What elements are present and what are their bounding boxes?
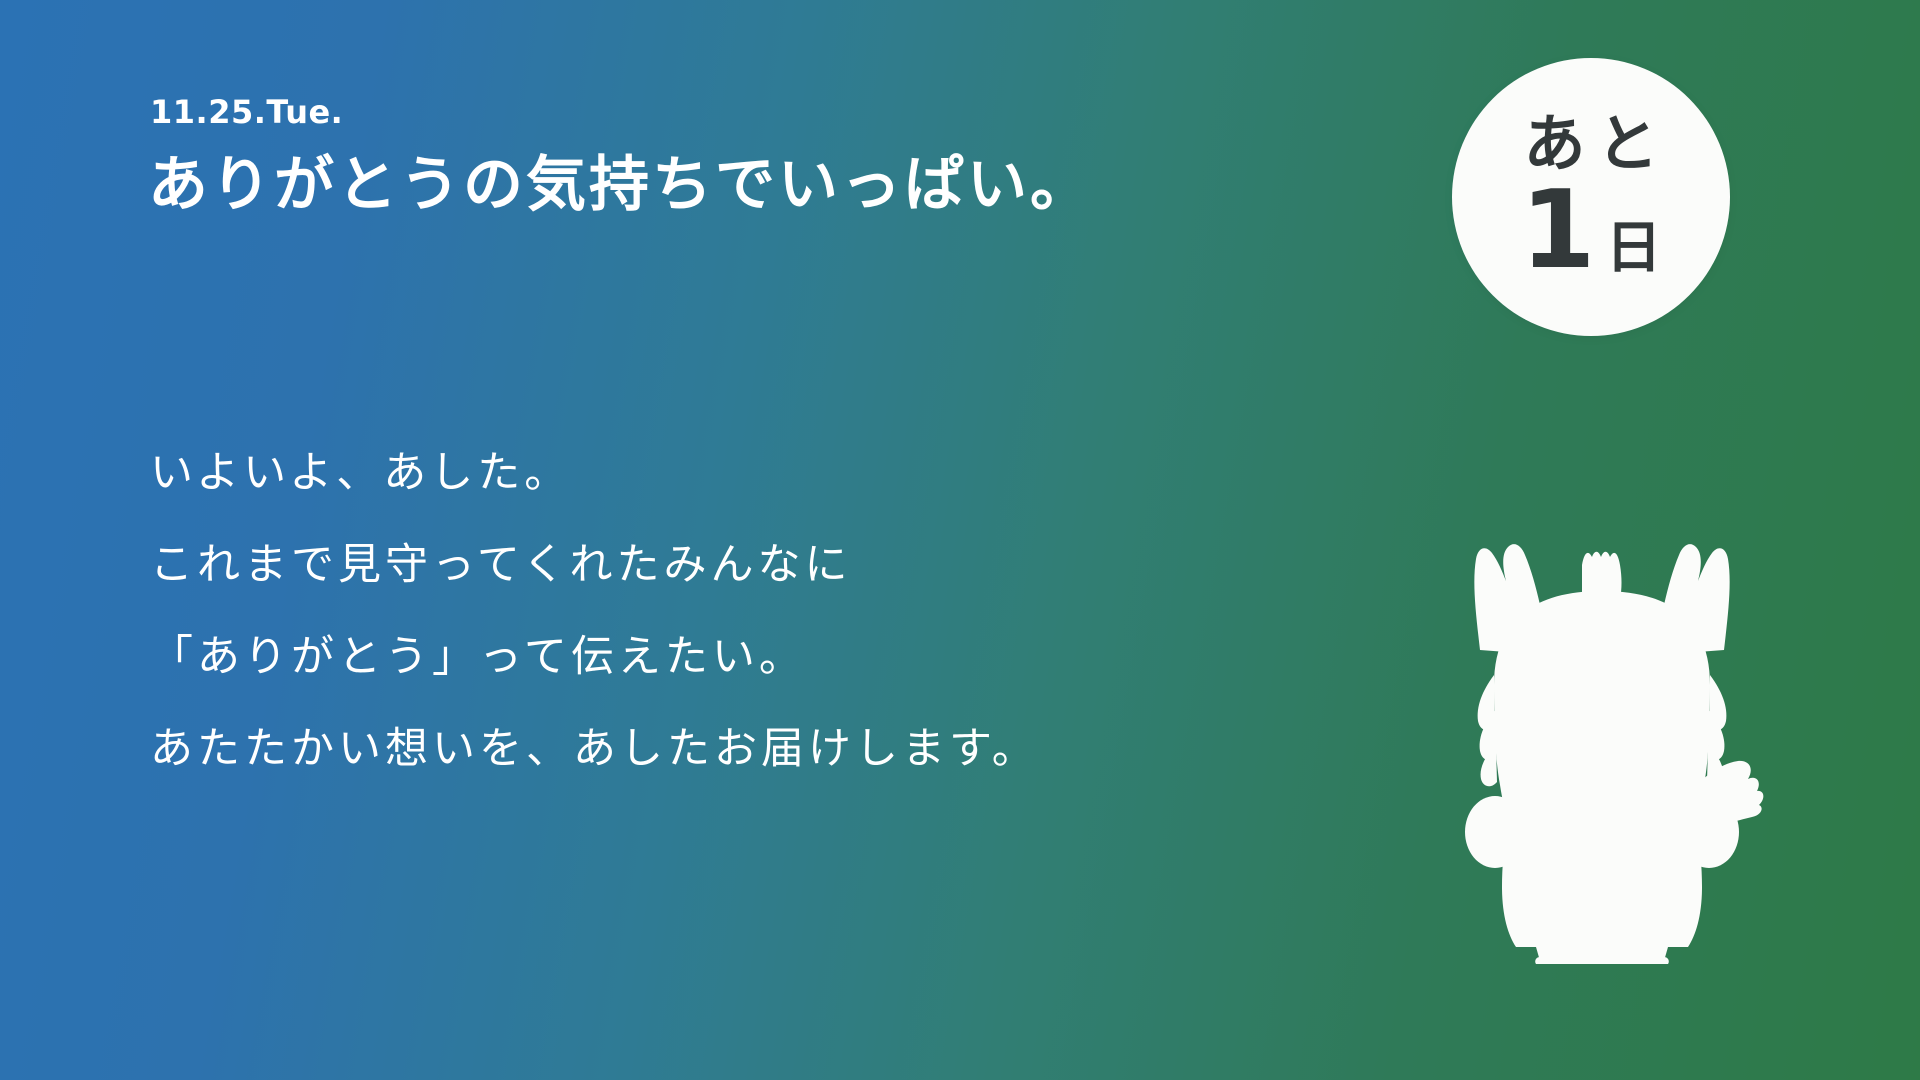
countdown-unit: 日 [1606, 221, 1662, 277]
countdown-badge-value: 1 日 [1520, 181, 1661, 280]
text-column: 11.25.Tue. ありがとうの気持ちでいっぱい。 [148, 96, 1328, 221]
countdown-badge-label: あと [1512, 113, 1669, 175]
page-title: ありがとうの気持ちでいっぱい。 [148, 150, 1328, 221]
countdown-number: 1 [1520, 181, 1595, 280]
body-line-1: いよいよ、あした。 [150, 452, 1310, 495]
date-label: 11.25.Tue. [150, 96, 1328, 128]
body-message: いよいよ、あした。 これまで見守ってくれたみんなに 「ありがとう」って伝えたい。… [150, 452, 1310, 771]
announcement-card: 11.25.Tue. ありがとうの気持ちでいっぱい。 いよいよ、あした。 これま… [0, 0, 1920, 1080]
body-line-3: 「ありがとう」って伝えたい。 [150, 636, 1310, 679]
body-line-2: これまで見守ってくれたみんなに [150, 544, 1310, 587]
body-line-4: あたたかい想いを、あしたお届けします。 [150, 728, 1310, 771]
cat-silhouette-icon [1432, 495, 1772, 965]
countdown-badge: あと 1 日 [1452, 58, 1730, 336]
